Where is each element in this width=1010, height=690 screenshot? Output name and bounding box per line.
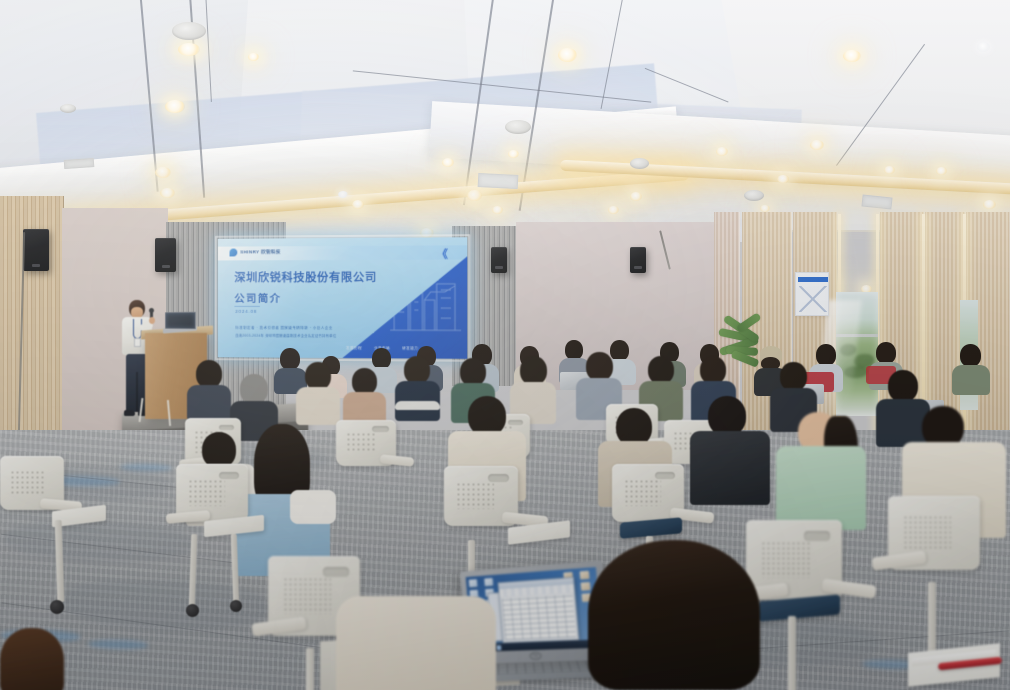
- ceiling-downlight: [630, 192, 642, 201]
- ceiling-downlight: [338, 191, 348, 198]
- attendee-torso: [690, 431, 770, 505]
- chair-perforation: [346, 432, 377, 453]
- ceiling-downlight: [884, 166, 895, 174]
- ceiling-downlight: [843, 50, 861, 62]
- chair-handle: [323, 567, 349, 577]
- chair-handle: [804, 531, 831, 541]
- chair-handle: [508, 420, 524, 425]
- chair-handle: [219, 425, 235, 431]
- chair-leg: [306, 648, 314, 690]
- ceiling-downlight: [160, 188, 175, 198]
- attendee-head: [404, 356, 430, 384]
- chair-handle: [488, 474, 509, 481]
- attendee-head: [888, 370, 918, 402]
- presenter-badge: [134, 338, 141, 347]
- attendee-head: [610, 340, 629, 361]
- attendee-head: [700, 356, 726, 384]
- chair-perforation: [761, 541, 811, 578]
- chair-perforation: [456, 482, 494, 510]
- attendee-head: [280, 348, 300, 370]
- ceiling-air-vent: [478, 173, 519, 189]
- ceiling-downlight: [352, 200, 364, 209]
- ceiling-downlight: [810, 140, 824, 150]
- smoke-detector-disc: [744, 190, 764, 201]
- podium-laptop-screen: [165, 312, 196, 329]
- attendee-head: [460, 358, 486, 386]
- attendee-head: [372, 348, 391, 369]
- desktop-icon[interactable]: [580, 571, 590, 580]
- attendee-head: [565, 340, 583, 360]
- spreadsheet-grid[interactable]: [502, 594, 576, 640]
- hp-logo-icon: hp: [529, 652, 541, 660]
- spreadsheet-window[interactable]: [498, 577, 580, 643]
- ceiling-downlight: [983, 200, 996, 209]
- chair-perforation: [10, 470, 43, 495]
- ceiling-downlight: [936, 167, 947, 175]
- attendee-torso: [296, 387, 340, 425]
- ceiling: [0, 0, 1010, 232]
- foreground-attendee-hair: [0, 628, 64, 690]
- ceiling-downlight: [558, 48, 577, 62]
- attendee-head: [780, 362, 807, 391]
- attendee-collar: [290, 490, 336, 524]
- wall-mounted-loudspeaker: [491, 247, 507, 273]
- poster-diagram: [799, 286, 827, 312]
- ceiling-downlight: [248, 53, 259, 61]
- chair-caster: [186, 604, 199, 617]
- ceiling-downlight: [777, 175, 789, 183]
- attendee-head: [196, 360, 222, 388]
- poster-header-band: [798, 277, 828, 282]
- chair-perforation: [188, 479, 225, 506]
- ceiling-downlight: [977, 42, 990, 52]
- smoke-detector-disc: [630, 158, 649, 169]
- attendee-head: [352, 368, 377, 395]
- foreground-attendee-torso: [336, 596, 496, 690]
- chair-leg: [788, 616, 796, 690]
- attendee-head: [468, 396, 506, 436]
- microphone-capsule: [149, 308, 154, 313]
- wall-mounted-loudspeaker: [23, 229, 49, 271]
- ceiling-downlight: [716, 147, 728, 156]
- chair-caster: [230, 600, 242, 612]
- ceiling-downlight: [492, 206, 503, 214]
- attendee-head: [816, 344, 836, 366]
- ceiling-downlight: [155, 167, 171, 178]
- ceiling-downlight: [467, 190, 482, 201]
- presenter-hand: [149, 317, 155, 324]
- attendee-head: [586, 352, 613, 381]
- attendee-head: [708, 396, 746, 436]
- chair-handle: [655, 472, 675, 479]
- chair-handle: [372, 426, 389, 432]
- attendee-head: [520, 356, 547, 385]
- attendee-head: [648, 356, 674, 384]
- foreground-attendee-hair: [588, 540, 760, 690]
- ceiling-downlight: [508, 150, 519, 158]
- wall-mounted-loudspeaker: [630, 247, 646, 273]
- attendee-head: [960, 344, 981, 367]
- attendee-head-gray-hair: [240, 374, 268, 404]
- attendee-torso: [952, 365, 990, 395]
- desktop-icon[interactable]: [484, 578, 493, 586]
- desktop-icon[interactable]: [469, 579, 478, 587]
- attendee-shirt-stripe: [395, 401, 440, 410]
- smoke-detector-disc: [60, 104, 76, 113]
- chair-perforation: [624, 479, 661, 506]
- attendee-head: [305, 362, 331, 390]
- attendee-head: [876, 342, 896, 364]
- attendee-torso: [776, 446, 866, 530]
- projection-screen-bezel: [215, 234, 470, 362]
- smoke-detector-disc: [172, 22, 206, 40]
- ceiling-downlight: [178, 43, 200, 56]
- ceiling-downlight: [165, 100, 185, 113]
- taskbar-button[interactable]: [496, 645, 501, 650]
- smoke-detector-disc: [505, 120, 531, 134]
- presenter-shoe: [124, 410, 135, 416]
- chair-handle: [219, 472, 239, 479]
- wall-notice-poster: [795, 272, 829, 316]
- chair-caster: [50, 600, 64, 614]
- ceiling-downlight: [442, 158, 454, 167]
- attendee-torso: [187, 385, 231, 421]
- chair-leg: [928, 582, 936, 660]
- desktop-icon[interactable]: [581, 582, 591, 591]
- chair-perforation: [283, 577, 331, 614]
- ceiling-downlight: [760, 205, 770, 212]
- attendee-head: [202, 432, 236, 468]
- wall-mounted-loudspeaker: [155, 238, 176, 272]
- conference-room-photo: SHINRY 欣锐科技 《 深圳欣锐科技股份有限公司 公司简介 2024.08 …: [0, 0, 1010, 690]
- ceiling-downlight: [608, 206, 619, 214]
- chair-perforation: [903, 515, 951, 549]
